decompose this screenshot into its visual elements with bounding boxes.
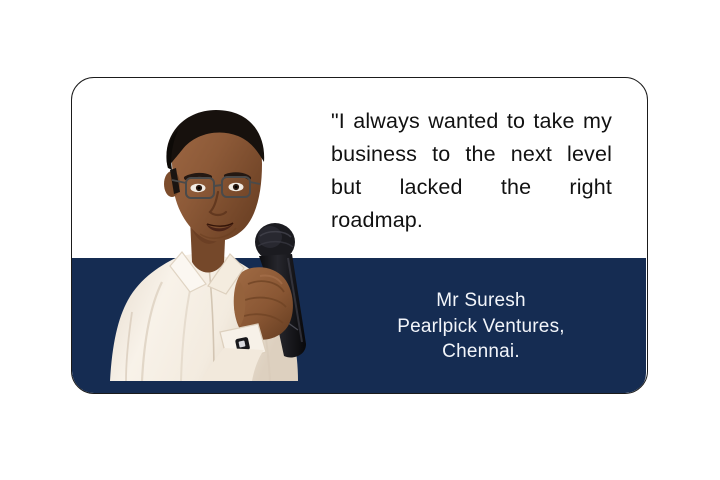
speaker-name: Mr Suresh [331, 288, 631, 314]
speaker-company: Pearlpick Ventures, [331, 314, 631, 340]
face [172, 114, 262, 241]
testimonial-card: "I always wanted to take my business to … [71, 77, 648, 394]
hair [166, 110, 264, 168]
attribution-text: Mr Suresh Pearlpick Ventures, Chennai. [331, 288, 631, 365]
testimonial-canvas: "I always wanted to take my business to … [0, 0, 720, 480]
speaker-city: Chennai. [331, 339, 631, 365]
glasses-icon [172, 177, 260, 198]
quote-text: "I always wanted to take my business to … [331, 105, 612, 237]
